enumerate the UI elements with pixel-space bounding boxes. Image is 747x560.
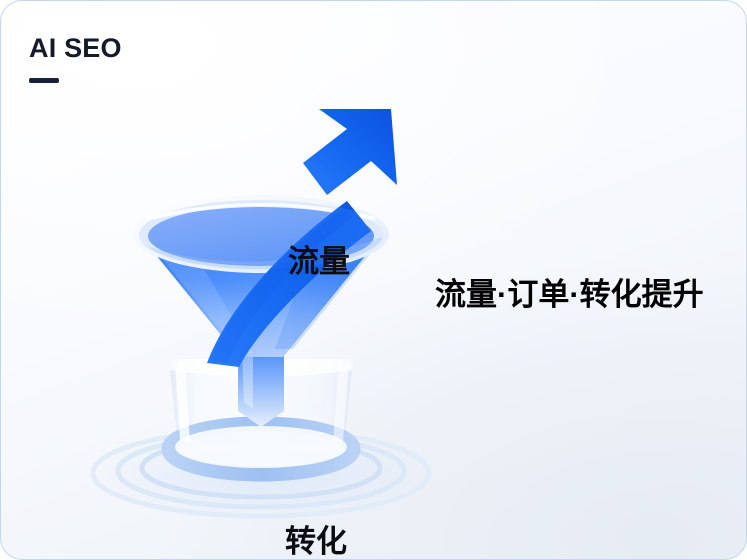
page-title: AI SEO — [29, 35, 122, 62]
title-underline-rule — [29, 78, 59, 83]
funnel-graphic — [61, 91, 461, 521]
header: AI SEO — [29, 35, 122, 83]
illustration-card: AI SEO 流量·订单·转化提升 — [0, 0, 747, 560]
funnel-stem — [238, 349, 284, 427]
funnel-illustration: 流量 转化 — [61, 91, 461, 521]
headline-text: 流量·订单·转化提升 — [435, 277, 704, 313]
label-traffic: 流量 — [288, 246, 350, 277]
label-conversion: 转化 — [285, 526, 347, 557]
